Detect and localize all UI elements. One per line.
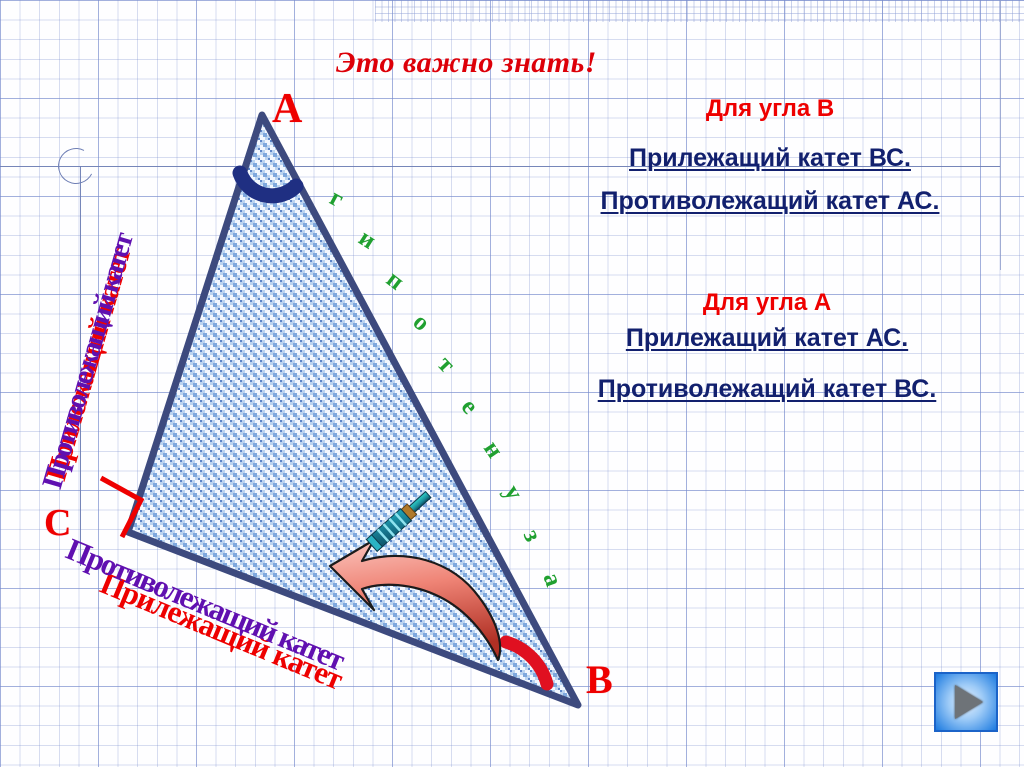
panel-angle-a-line1: Прилежащий катет АС. bbox=[512, 324, 1022, 353]
panel-angle-b-line2: Противолежащий катет АС. bbox=[520, 187, 1020, 216]
panel-angle-a-heading: Для угла А bbox=[512, 290, 1022, 316]
panel-angle-a: Для угла А Прилежащий катет АС. Противол… bbox=[512, 290, 1022, 404]
page-title: Это важно знать! bbox=[336, 46, 597, 80]
slide-canvas: A B C Прилежащий катет Противолежащий ка… bbox=[0, 0, 1024, 767]
panel-angle-a-line2: Противолежащий катет ВС. bbox=[512, 375, 1022, 404]
panel-angle-b-line1: Прилежащий катет ВС. bbox=[520, 144, 1020, 173]
panel-angle-b-heading: Для угла В bbox=[520, 96, 1020, 122]
panel-angle-b: Для угла В Прилежащий катет ВС. Противол… bbox=[520, 96, 1020, 216]
vertex-label-c: C bbox=[44, 504, 71, 542]
vertex-label-b: B bbox=[586, 660, 613, 700]
next-slide-button[interactable] bbox=[934, 672, 998, 732]
vertex-label-a: A bbox=[272, 88, 302, 130]
play-triangle-icon bbox=[955, 685, 983, 719]
